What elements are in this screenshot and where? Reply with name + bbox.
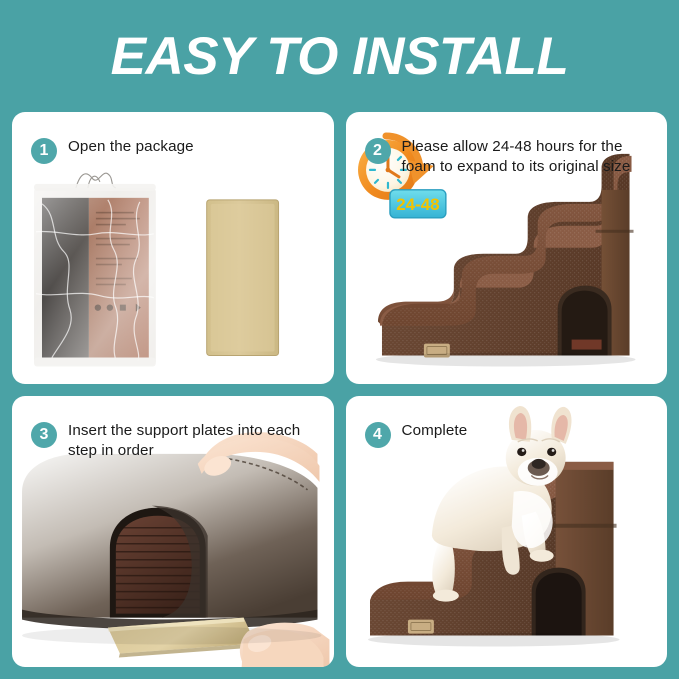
step-card-3[interactable]: 3 Insert the support plates into each st…: [12, 396, 334, 668]
step-3-header: 3 Insert the support plates into each st…: [31, 421, 320, 461]
step-number-badge-4: 4: [365, 422, 391, 448]
step-card-1[interactable]: 1 Open the package: [12, 112, 334, 384]
duration-badge: 24-48: [389, 190, 445, 218]
step-card-4[interactable]: 4 Complete: [346, 396, 668, 668]
svg-text:24-48: 24-48: [396, 195, 439, 214]
step-4-text: Complete: [402, 421, 468, 441]
step-3-text: Insert the support plates into each step…: [68, 421, 320, 461]
step-2-header: 2 Please allow 24-48 hours for the foam …: [365, 137, 654, 177]
header-bar: EASY TO INSTALL: [0, 0, 679, 112]
step-card-2[interactable]: 24-48 2 Please allow 24-48 hours for the…: [346, 112, 668, 384]
step-number-badge-3: 3: [31, 422, 57, 448]
step-number-badge-1: 1: [31, 138, 57, 164]
step-4-header: 4 Complete: [365, 421, 654, 448]
page-title: EASY TO INSTALL: [111, 30, 569, 83]
step-1-text: Open the package: [68, 137, 194, 157]
steps-grid: 1 Open the package: [12, 112, 667, 667]
step-1-header: 1 Open the package: [31, 137, 320, 164]
step-number-badge-2: 2: [365, 138, 391, 164]
step-2-text: Please allow 24-48 hours for the foam to…: [402, 137, 654, 177]
